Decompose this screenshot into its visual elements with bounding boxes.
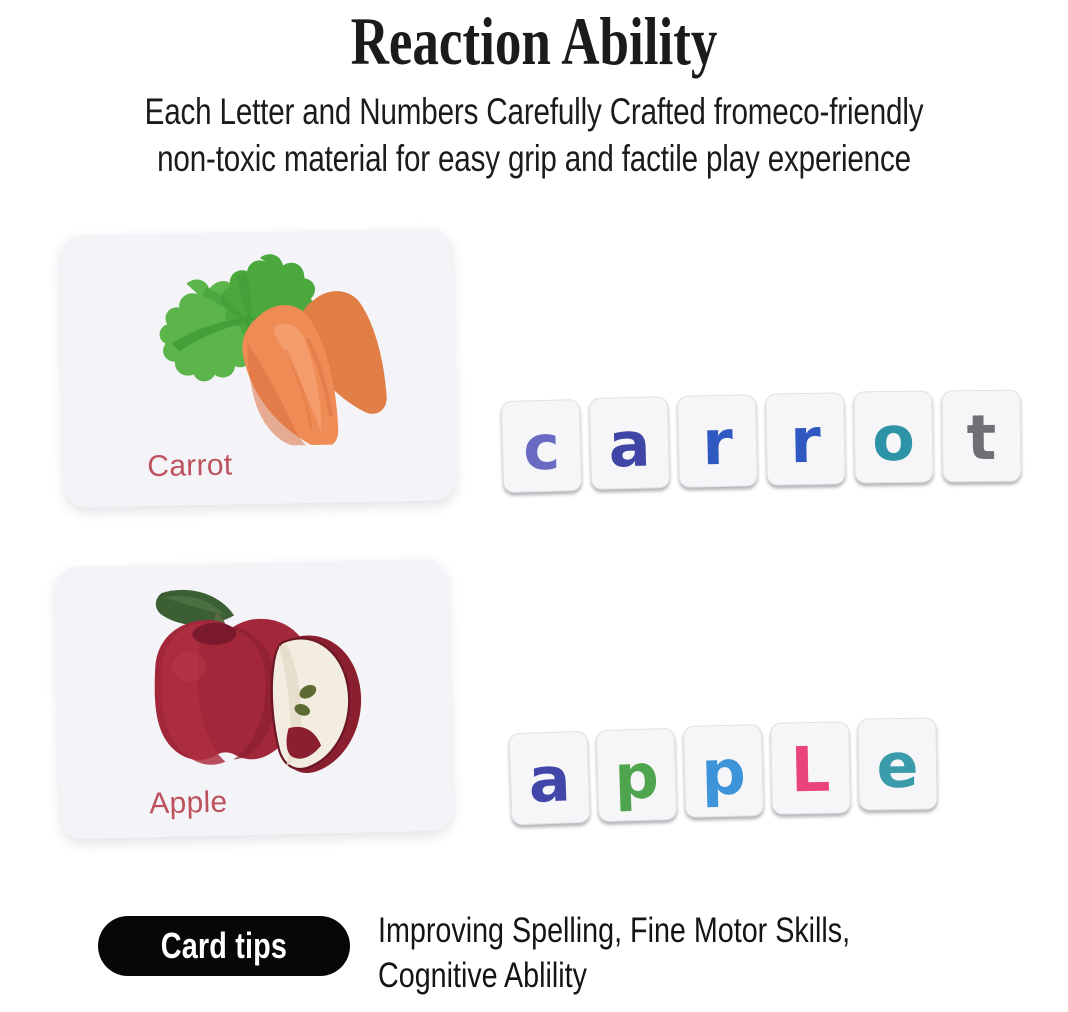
card-tips-description: Improving Spelling, Fine Motor Skills, C… (378, 908, 919, 998)
letter-tile-row-apple: appLe (510, 718, 950, 833)
letter-glyph: o (872, 408, 915, 471)
carrot-illustration-icon (60, 242, 456, 449)
letter-glyph: L (790, 739, 831, 802)
flashcard-apple[interactable]: Apple (55, 559, 453, 840)
letter-glyph: p (613, 745, 659, 808)
letter-glyph: r (702, 412, 734, 475)
letter-tile-carrot-2[interactable]: a (589, 396, 670, 490)
letter-glyph: p (701, 741, 747, 804)
flashcard-carrot[interactable]: Carrot (59, 228, 456, 507)
letter-glyph: r (790, 410, 822, 473)
letter-tile-carrot-3[interactable]: r (677, 394, 758, 488)
letter-tile-row-carrot: carrot (502, 390, 1022, 500)
letter-glyph: c (522, 416, 560, 479)
subtitle-line-2: non-toxic material for easy grip and fac… (107, 135, 961, 182)
apple-card-label: Apple (0, 782, 385, 825)
letter-glyph: a (528, 748, 572, 811)
letter-glyph: e (876, 735, 919, 798)
carrot-card-label: Carrot (0, 446, 386, 488)
card-tips-section: Card tips Improving Spelling, Fine Motor… (0, 908, 1068, 1012)
card-tips-line-1: Improving Spelling, Fine Motor Skills, (378, 908, 919, 953)
page-subtitle: Each Letter and Numbers Carefully Crafte… (107, 88, 961, 182)
letter-tile-carrot-5[interactable]: o (853, 390, 933, 483)
letter-tile-carrot-1[interactable]: c (501, 399, 583, 493)
letter-tile-apple-2[interactable]: p (596, 728, 678, 822)
letter-tile-apple-5[interactable]: e (857, 717, 937, 810)
letter-tile-carrot-6[interactable]: t (942, 390, 1022, 483)
letter-tile-apple-1[interactable]: a (508, 731, 590, 826)
letter-glyph: a (608, 413, 651, 476)
apple-half (271, 634, 363, 773)
letter-tile-apple-4[interactable]: L (770, 721, 851, 814)
subtitle-line-1: Each Letter and Numbers Carefully Crafte… (107, 88, 961, 135)
card-tips-badge: Card tips (98, 916, 350, 976)
page-title: Reaction Ability (117, 4, 950, 78)
apple-illustration-icon (55, 573, 451, 782)
letter-tile-apple-3[interactable]: p (683, 724, 764, 818)
card-tips-badge-label: Card tips (161, 925, 287, 967)
card-tips-line-2: Cognitive Ablility (378, 953, 919, 998)
letter-glyph: t (966, 407, 996, 469)
header: Reaction Ability Each Letter and Numbers… (0, 0, 1068, 182)
letter-tile-carrot-4[interactable]: r (765, 392, 846, 485)
